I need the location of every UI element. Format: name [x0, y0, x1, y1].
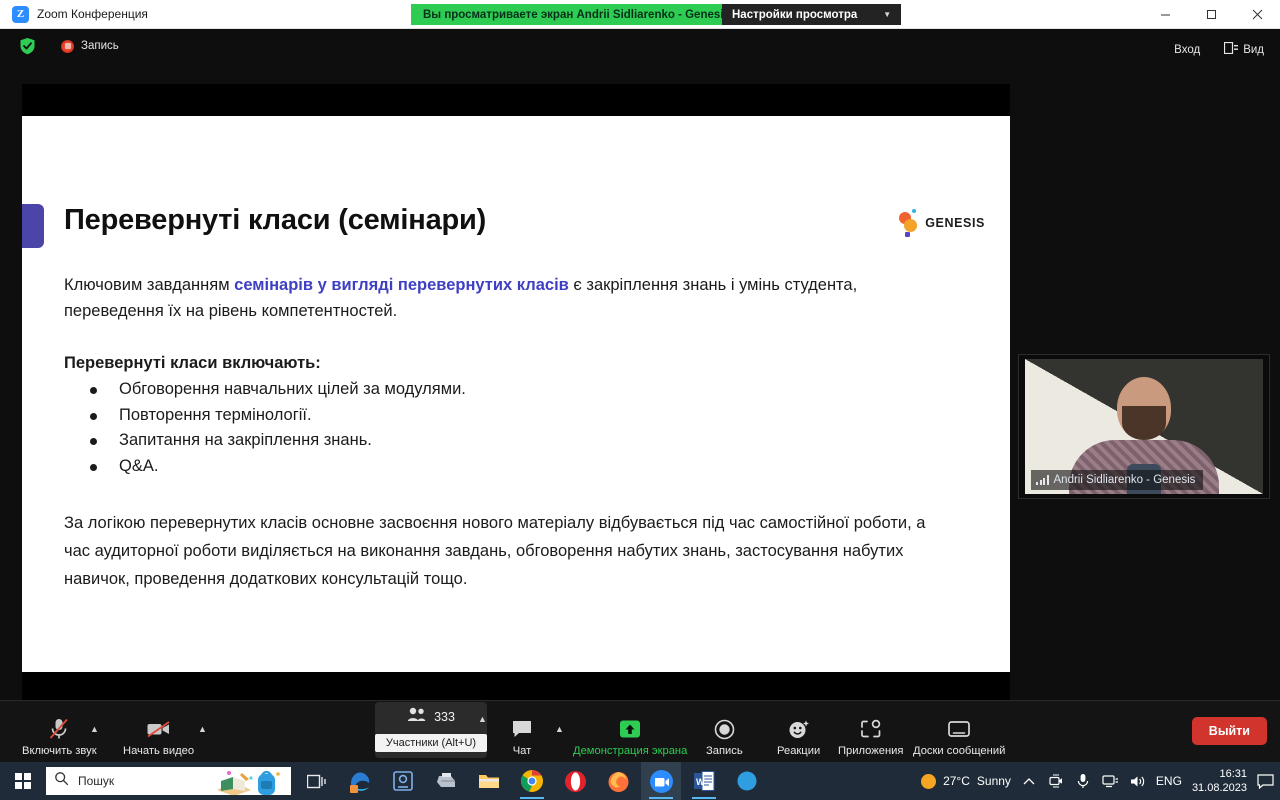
share-screen-button[interactable]: Демонстрация экрана — [573, 717, 687, 757]
encryption-shield-icon[interactable] — [18, 37, 37, 56]
sun-icon — [921, 774, 936, 789]
close-button[interactable] — [1234, 0, 1280, 29]
firefox-icon[interactable] — [598, 762, 638, 800]
login-button[interactable]: Вход — [1168, 41, 1206, 59]
reactions-label: Реакции — [777, 745, 820, 757]
zoom-top-toolbar: Запись — [18, 29, 1280, 63]
chat-options-chevron-icon[interactable]: ▲ — [555, 724, 564, 734]
participant-name-label: Andrii Sidliarenko - Genesis — [1031, 470, 1203, 490]
weather-description: Sunny — [977, 774, 1011, 788]
slide-tail-paragraph: За логікою перевернутих класів основне з… — [64, 509, 944, 593]
extra-app-icon[interactable] — [727, 762, 767, 800]
genesis-logo-text: GENESIS — [925, 216, 985, 230]
camera-tray-icon[interactable] — [1048, 773, 1065, 790]
screen-share-banner: Вы просматриваете экран Andrii Sidliaren… — [411, 4, 742, 25]
video-person-beard — [1122, 406, 1166, 440]
participant-video-tile[interactable]: Andrii Sidliarenko - Genesis — [1018, 354, 1270, 499]
action-center-icon[interactable] — [1257, 773, 1274, 790]
participants-chevron-icon[interactable]: ▲ — [478, 714, 487, 724]
list-item: Q&A. — [64, 454, 944, 480]
unmute-label: Включить звук — [22, 745, 97, 757]
zoom-meeting-window: Запись Вход Вид Пер — [0, 29, 1280, 762]
weather-widget[interactable]: 27°C Sunny — [921, 774, 1011, 789]
language-indicator[interactable]: ENG — [1156, 774, 1182, 788]
taskbar-search[interactable]: Пошук — [46, 767, 291, 795]
lead-text-before: Ключовим завданням — [64, 276, 234, 294]
slide-title: Перевернуті класи (семінари) — [64, 204, 824, 237]
minimize-button[interactable] — [1142, 0, 1188, 29]
system-tray: 27°C Sunny — [921, 762, 1280, 800]
start-video-label: Начать видео — [123, 745, 194, 757]
chat-label: Чат — [513, 745, 532, 757]
slide-list-heading: Перевернуті класи включають: — [64, 354, 944, 373]
view-layout-icon — [1224, 42, 1238, 57]
start-button[interactable] — [0, 762, 46, 800]
slide-body: Ключовим завданням семінарів у вигляді п… — [64, 272, 944, 593]
windows-taskbar: Пошук — [0, 762, 1280, 800]
view-settings-button[interactable]: Настройки просмотра ▼ — [722, 4, 901, 25]
view-settings-label: Настройки просмотра — [732, 9, 857, 21]
taskbar-clock[interactable]: 16:31 31.08.2023 — [1192, 767, 1247, 795]
start-video-button[interactable]: Начать видео — [123, 717, 194, 757]
clock-date: 31.08.2023 — [1192, 781, 1247, 795]
view-label: Вид — [1243, 44, 1264, 56]
chevron-down-icon: ▼ — [883, 10, 891, 19]
genesis-mark-icon — [899, 208, 919, 238]
microphone-muted-icon — [48, 717, 70, 741]
slide-lead-paragraph: Ключовим завданням семінарів у вигляді п… — [64, 272, 944, 324]
lead-highlight: семінарів у вигляді перевернутих класів — [234, 276, 569, 294]
recording-indicator[interactable]: Запись — [61, 40, 119, 53]
slide-bullet-list: Обговорення навчальних цілей за модулями… — [64, 377, 944, 479]
volume-tray-icon[interactable] — [1129, 773, 1146, 790]
windows-logo-icon — [15, 773, 31, 789]
zoom-app-icon: Z — [12, 6, 29, 23]
leave-label: Выйти — [1209, 724, 1250, 738]
unmute-button[interactable]: Включить звук — [22, 717, 97, 757]
screen-share-banner-text: Вы просматриваете экран Andrii Sidliaren… — [423, 9, 730, 21]
presentation-slide: Перевернуті класи (семінари) GENESIS Клю… — [22, 116, 1010, 672]
camera-off-icon — [146, 717, 172, 741]
taskbar-apps: W — [297, 762, 767, 800]
chat-bubble-icon — [511, 717, 533, 741]
zoom-topbar-right: Вход Вид — [1168, 39, 1270, 60]
maximize-button[interactable] — [1188, 0, 1234, 29]
printer-icon[interactable] — [426, 762, 466, 800]
titlebar-left: Z Zoom Конференция — [0, 6, 148, 23]
participants-icon — [407, 707, 428, 727]
record-circle-icon — [714, 717, 735, 741]
video-feed: Andrii Sidliarenko - Genesis — [1025, 359, 1263, 494]
slide-accent-bar — [22, 204, 44, 248]
chat-button[interactable]: Чат — [511, 717, 533, 757]
svg-text:W: W — [696, 777, 705, 787]
apps-button[interactable]: Приложения — [838, 717, 903, 757]
task-view-icon[interactable] — [297, 762, 337, 800]
participants-button[interactable]: 333 Участники (Alt+U) — [375, 702, 487, 758]
chrome-icon[interactable] — [512, 762, 552, 800]
zoom-bottom-toolbar: Включить звук ▲ Начать видео ▲ — [0, 700, 1280, 762]
apps-label: Приложения — [838, 745, 903, 757]
leave-meeting-button[interactable]: Выйти — [1192, 717, 1267, 745]
network-tray-icon[interactable] — [1102, 773, 1119, 790]
audio-options-chevron-icon[interactable]: ▲ — [90, 724, 99, 734]
genesis-logo: GENESIS — [899, 208, 985, 238]
record-label: Запись — [706, 745, 743, 757]
show-hidden-icons-chevron-icon[interactable] — [1021, 773, 1038, 790]
screen-root: Z Zoom Конференция Вы просматриваете экр… — [0, 0, 1280, 800]
clock-time: 16:31 — [1219, 767, 1247, 781]
apps-icon — [860, 717, 882, 741]
list-item: Запитання на закріплення знань. — [64, 428, 944, 454]
edge-icon[interactable] — [340, 762, 380, 800]
file-explorer-icon[interactable] — [469, 762, 509, 800]
zoom-taskbar-icon[interactable] — [641, 762, 681, 800]
video-options-chevron-icon[interactable]: ▲ — [198, 724, 207, 734]
search-icon — [54, 771, 69, 791]
scanner-app-icon[interactable] — [383, 762, 423, 800]
record-button[interactable]: Запись — [706, 717, 743, 757]
list-item: Повторення термінології. — [64, 403, 944, 429]
window-controls — [1142, 0, 1280, 29]
participants-top: 333 — [375, 702, 487, 732]
whiteboard-icon — [947, 717, 971, 741]
window-title: Zoom Конференция — [37, 7, 148, 21]
share-screen-label: Демонстрация экрана — [573, 745, 687, 757]
signal-strength-icon — [1036, 475, 1049, 485]
recording-label: Запись — [81, 40, 119, 52]
weather-temperature: 27°C — [943, 774, 970, 788]
participant-name-text: Andrii Sidliarenko - Genesis — [1054, 474, 1196, 486]
participants-count: 333 — [434, 710, 455, 724]
reactions-button[interactable]: Реакции — [777, 717, 820, 757]
login-label: Вход — [1174, 44, 1200, 56]
reactions-smiley-icon — [788, 717, 810, 741]
whiteboards-button[interactable]: Доски сообщений — [913, 717, 1005, 757]
participants-tooltip: Участники (Alt+U) — [375, 734, 487, 752]
microphone-tray-icon[interactable] — [1075, 773, 1092, 790]
share-screen-icon — [618, 717, 642, 741]
whiteboards-label: Доски сообщений — [913, 745, 1005, 757]
search-placeholder: Пошук — [78, 774, 114, 788]
view-button[interactable]: Вид — [1218, 39, 1270, 60]
word-icon[interactable]: W — [684, 762, 724, 800]
shared-screen-area[interactable]: Перевернуті класи (семінари) GENESIS Клю… — [22, 84, 1010, 734]
record-dot-icon — [61, 40, 74, 53]
opera-icon[interactable] — [555, 762, 595, 800]
search-illustration-icon — [211, 769, 287, 795]
list-item: Обговорення навчальних цілей за модулями… — [64, 377, 944, 403]
